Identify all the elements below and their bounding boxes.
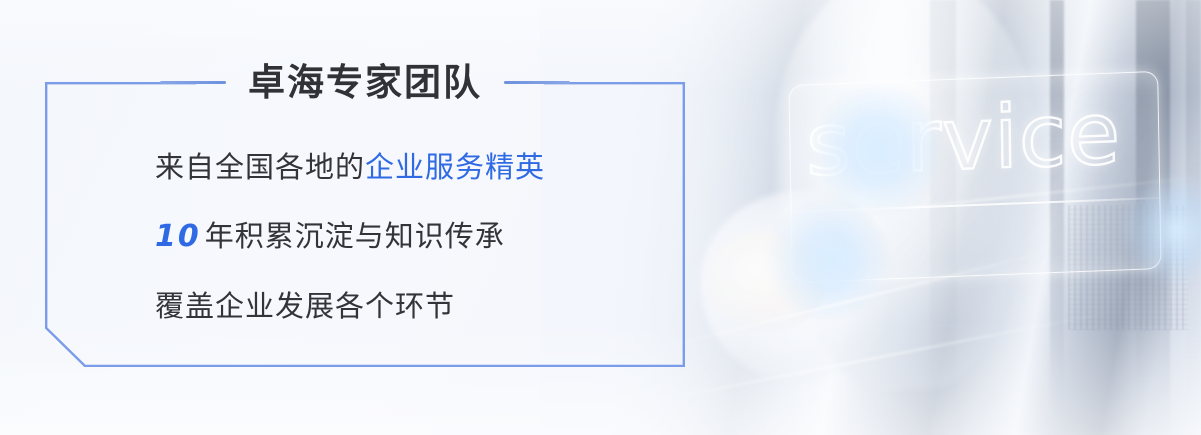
feature-line-1-highlight: 企业服务精英: [365, 150, 545, 184]
banner-title: 卓海专家团队: [248, 64, 482, 101]
feature-line-2-suffix: 年积累沉淀与知识传承: [205, 219, 505, 253]
feature-line-2: 10年积累沉淀与知识传承: [155, 222, 685, 252]
feature-line-2-number: 10: [155, 219, 205, 254]
expert-team-banner: service 卓海专家团队 来自全国各地的企业服务精英: [0, 0, 1201, 435]
title-rule-left: [160, 81, 226, 84]
feature-line-3: 覆盖企业发展各个环节: [155, 292, 685, 321]
title-row: 卓海专家团队: [45, 56, 685, 108]
feature-line-list: 来自全国各地的企业服务精英 10年积累沉淀与知识传承 覆盖企业发展各个环节: [45, 108, 685, 366]
title-rule-right: [504, 81, 570, 84]
feature-line-1-prefix: 来自全国各地的: [155, 150, 365, 184]
feature-line-3-prefix: 覆盖企业发展各个环节: [155, 289, 455, 323]
feature-line-1: 来自全国各地的企业服务精英: [155, 153, 685, 182]
